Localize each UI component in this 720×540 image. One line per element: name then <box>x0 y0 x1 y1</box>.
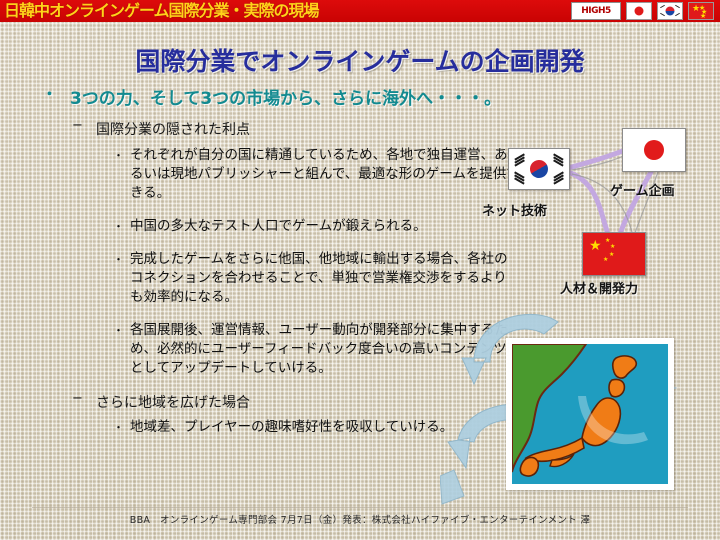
banner-title: 日韓中オンラインゲーム国際分業・実際の現場 <box>4 0 319 22</box>
slide-banner: 日韓中オンラインゲーム国際分業・実際の現場 HIGH5 ★ ★ ★ ★ <box>0 0 720 22</box>
footer-divider <box>32 507 688 508</box>
slide-footer: BBA オンラインゲーム専門部会 7月7日（金）発表：株式会社ハイファイブ・エン… <box>0 512 720 526</box>
korea-trigram-2 <box>675 5 680 8</box>
korea-taegeuk <box>527 157 552 182</box>
japan-map-frame <box>506 338 674 490</box>
diagram-label-china: 人材＆開発力 <box>560 278 638 297</box>
japan-flag-disc <box>635 7 644 16</box>
bullet-level2-text: さらに地域を広げた場合 <box>96 395 250 411</box>
china-flag-icon: ★ ★ ★ ★ <box>688 2 714 20</box>
bullet-level1: ・ 3つの力、そして3つの市場から、さらに海外へ・・・。 <box>0 84 720 109</box>
bullet-level3-item: ・ 中国の多大なテスト人口でゲームが鍛えられる。 <box>0 217 520 236</box>
bullet-mark: ・ <box>113 418 124 437</box>
bullet-level3-text: 中国の多大なテスト人口でゲームが鍛えられる。 <box>130 217 520 236</box>
diagram-south-korea-flag <box>508 148 570 190</box>
korea-trigram-1 <box>660 5 665 8</box>
high5-logo: HIGH5 <box>571 2 621 20</box>
bullet-level1-text: 3つの力、そして3つの市場から、さらに海外へ・・・。 <box>70 89 501 109</box>
china-star-2: ★ <box>610 243 615 250</box>
diagram-label-japan: ゲーム企画 <box>610 180 675 199</box>
japan-flag-disc <box>644 140 664 160</box>
japan-map-illustration <box>440 300 720 510</box>
bullet-level3-item: ・ 完成したゲームをさらに他国、他地域に輸出する場合、各社のコネクションを合わせ… <box>0 250 520 307</box>
bullet-mark: ・ <box>113 250 124 269</box>
bullet-level3-text: それぞれが自分の国に精通しているため、各地で独自運営、あるいは現地パブリッシャー… <box>130 146 520 203</box>
japan-map-canvas <box>512 344 668 484</box>
diagram-japan-flag <box>622 128 686 172</box>
bullet-mark: ・ <box>113 321 124 340</box>
korea-taegeuk <box>666 7 675 16</box>
bullet-level2-text: 国際分業の隠された利点 <box>96 122 250 138</box>
bullet-mark: ・ <box>113 217 124 236</box>
slide-title: 国際分業でオンラインゲームの企画開発 <box>0 42 720 78</box>
china-star-4: ★ <box>603 256 608 263</box>
china-star-big: ★ <box>589 239 602 253</box>
japan-flag-icon <box>626 2 652 20</box>
diagram-china-flag: ★ ★ ★ ★ ★ <box>582 232 646 276</box>
diagram-label-korea: ネット技術 <box>482 200 547 219</box>
china-star-3: ★ <box>700 13 706 20</box>
bullet-level3-item: ・ それぞれが自分の国に精通しているため、各地で独自運営、あるいは現地パブリッシ… <box>0 146 520 203</box>
bullet-mark: ・ <box>42 83 57 104</box>
banner-logo-group: HIGH5 ★ ★ ★ ★ <box>571 2 714 20</box>
bullet-mark: − <box>72 391 83 406</box>
bullet-mark: ・ <box>113 146 124 165</box>
high5-logo-text: HIGH5 <box>581 7 611 16</box>
korea-trigram-3 <box>660 13 665 16</box>
south-korea-flag-icon <box>657 2 683 20</box>
bullet-mark: − <box>72 118 83 133</box>
country-role-diagram: ★ ★ ★ ★ ★ ゲーム企画 ネット技術 人材＆開発力 <box>480 120 720 330</box>
korea-trigram-4 <box>675 13 680 16</box>
bullet-level3-text: 完成したゲームをさらに他国、他地域に輸出する場合、各社のコネクションを合わせるこ… <box>130 250 520 307</box>
china-star-3: ★ <box>609 251 614 258</box>
presentation-slide: 日韓中オンラインゲーム国際分業・実際の現場 HIGH5 ★ ★ ★ ★ <box>0 0 720 540</box>
japan-map-svg <box>512 344 668 484</box>
